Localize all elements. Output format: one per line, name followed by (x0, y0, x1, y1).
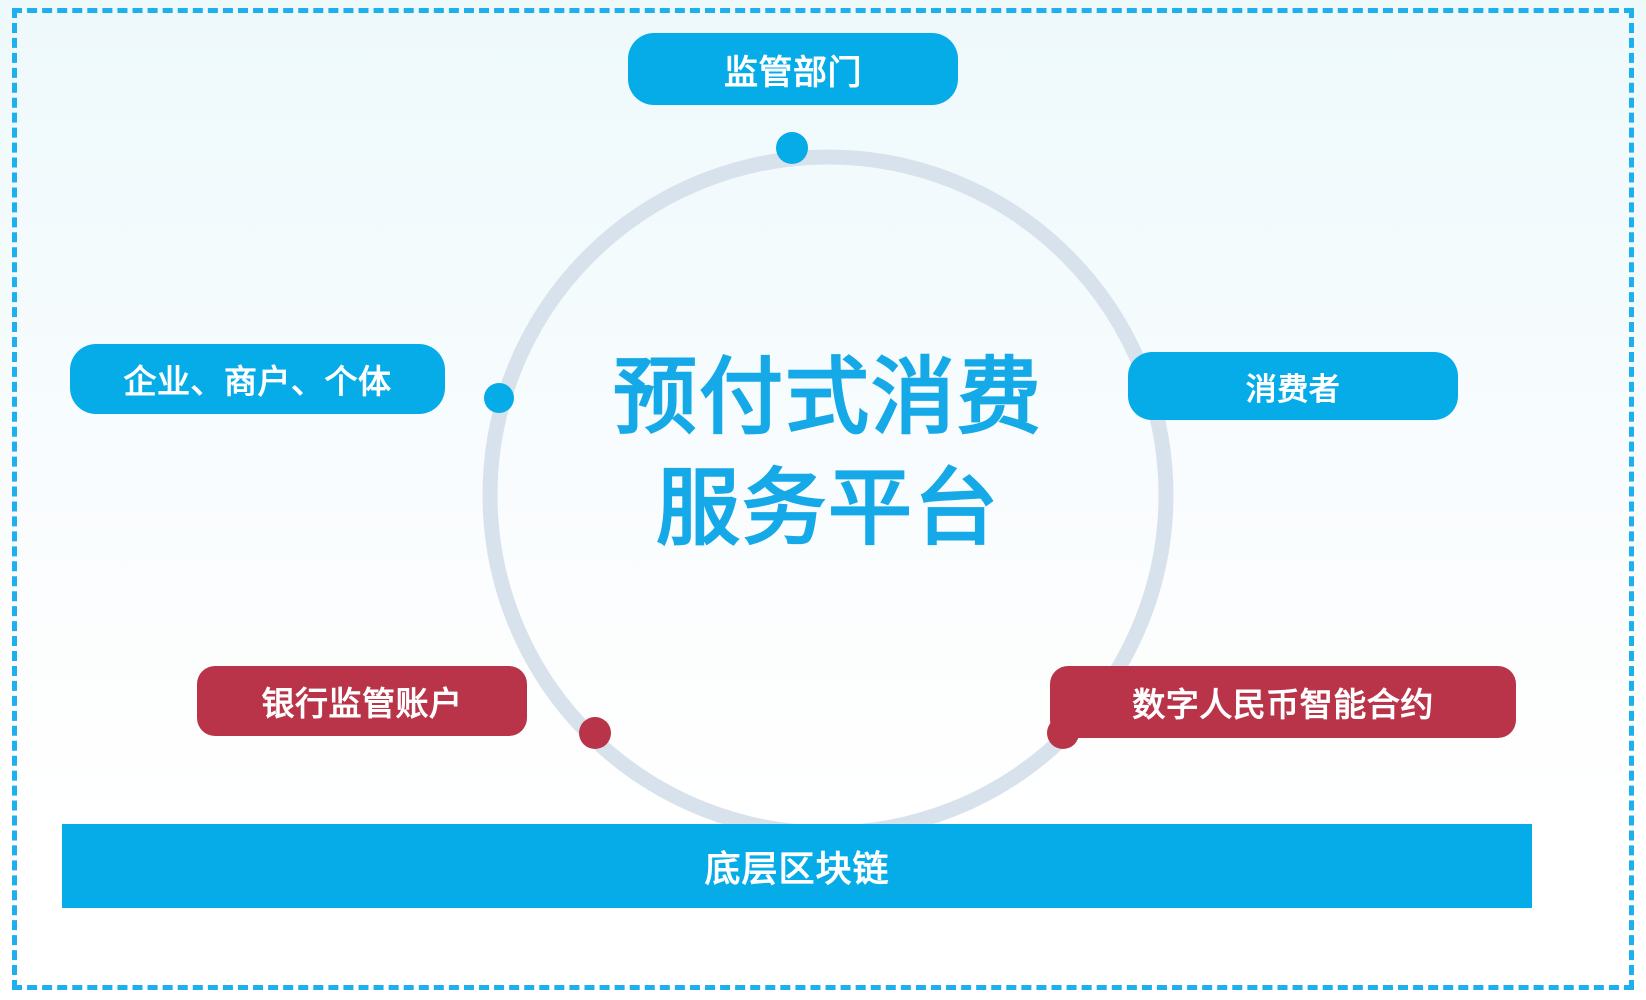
center-platform-title: 预付式消费 服务平台 (528, 342, 1128, 564)
pill-consumers[interactable]: 消费者 (1128, 352, 1458, 420)
pill-consumers-label: 消费者 (1246, 364, 1341, 409)
pill-enterprises-merchants-individuals[interactable]: 企业、商户、个体 (70, 344, 445, 414)
pill-digital-rmb-smart-contract[interactable]: 数字人民币智能合约 (1050, 666, 1516, 738)
pill-enterprises-merchants-individuals-label: 企业、商户、个体 (124, 355, 392, 403)
diagram-canvas: 预付式消费 服务平台 监管部门 企业、商户、个体 消费者 银行监管账户 数字人民… (0, 0, 1646, 1000)
pill-digital-rmb-smart-contract-label: 数字人民币智能合约 (1132, 678, 1434, 726)
bottom-bar-underlying-blockchain[interactable]: 底层区块链 (62, 824, 1532, 908)
node-bottom-left-icon (579, 717, 611, 749)
pill-regulatory-department-label: 监管部门 (724, 45, 862, 94)
pill-regulatory-department[interactable]: 监管部门 (628, 33, 958, 105)
pill-bank-supervision-account[interactable]: 银行监管账户 (197, 666, 527, 736)
node-left-icon (484, 383, 514, 413)
bottom-bar-label: 底层区块链 (704, 840, 889, 892)
node-top-icon (776, 132, 808, 164)
pill-bank-supervision-account-label: 银行监管账户 (262, 677, 463, 725)
